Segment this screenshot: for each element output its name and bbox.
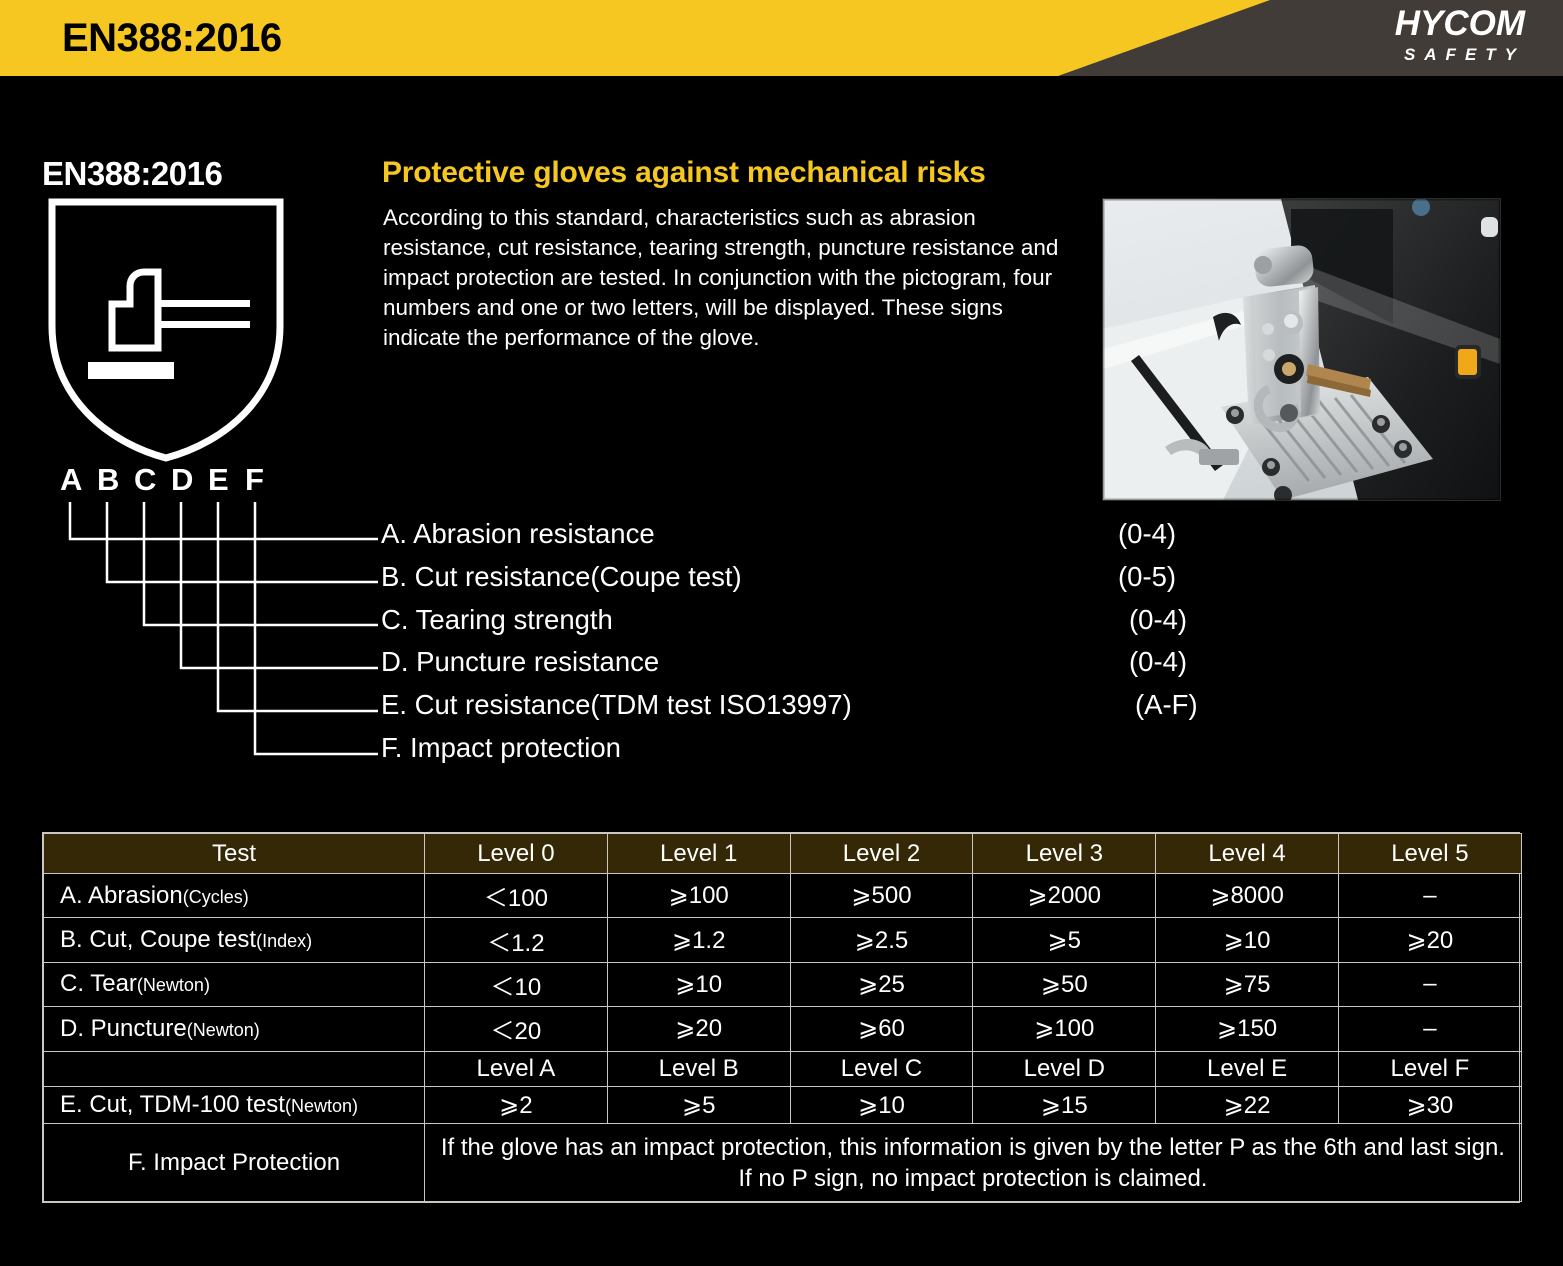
table-row: C. Tear(Newton) ＜10 ⩾10 ⩾25 ⩾50 ⩾75 – xyxy=(44,962,1522,1006)
cell-abrasion-4: ⩾8000 xyxy=(1156,874,1339,918)
letter-key-e: E xyxy=(208,462,229,498)
cell-tear-0: ＜10 xyxy=(425,962,608,1006)
table-col-level-0: Level 0 xyxy=(425,834,608,874)
row-unit-tear: (Newton) xyxy=(137,975,210,995)
cell-cut-coupe-4: ⩾10 xyxy=(1156,918,1339,962)
standard-label: EN388:2016 xyxy=(42,155,222,193)
shield-hammer-icon xyxy=(46,196,286,464)
legend-item-c-label: C. Tearing strength xyxy=(381,604,613,636)
letter-key-b: B xyxy=(97,462,119,498)
cell-cut-coupe-0: ＜1.2 xyxy=(425,918,608,962)
cell-tdm-0: ⩾2 xyxy=(425,1087,608,1124)
cell-cut-coupe-2: ⩾2.5 xyxy=(790,918,973,962)
legend-item-d-range: (0-4) xyxy=(1129,646,1187,678)
legend-item-e-label: E. Cut resistance(TDM test ISO13997) xyxy=(381,689,852,721)
table-col-level-1: Level 1 xyxy=(607,834,790,874)
cell-level-c: Level C xyxy=(790,1051,973,1087)
cell-puncture-4: ⩾150 xyxy=(1156,1007,1339,1051)
cell-level-e: Level E xyxy=(1156,1051,1339,1087)
testing-machine-image xyxy=(1103,199,1500,500)
brand-logo: HYCOM SAFETY xyxy=(1395,6,1525,67)
row-unit-abrasion: (Cycles) xyxy=(183,887,249,907)
cell-abrasion-0: ＜100 xyxy=(425,874,608,918)
intro-paragraph: According to this standard, characterist… xyxy=(383,203,1083,353)
legend-item-b-label: B. Cut resistance(Coupe test) xyxy=(381,561,742,593)
table-col-level-3: Level 3 xyxy=(973,834,1156,874)
cell-abrasion-1: ⩾100 xyxy=(607,874,790,918)
letter-key-f: F xyxy=(245,462,264,498)
cell-tdm-2: ⩾10 xyxy=(790,1087,973,1124)
row-label-tear-text: C. Tear xyxy=(60,970,137,997)
letter-key-a: A xyxy=(60,462,82,498)
cell-cut-coupe-1: ⩾1.2 xyxy=(607,918,790,962)
cell-cut-coupe-3: ⩾5 xyxy=(973,918,1156,962)
row-label-impact: F. Impact Protection xyxy=(44,1124,425,1202)
cell-tear-5: – xyxy=(1338,962,1521,1006)
shield-hammer-pictogram xyxy=(46,196,286,464)
cell-tear-2: ⩾25 xyxy=(790,962,973,1006)
page-header: EN388:2016 HYCOM SAFETY xyxy=(0,0,1563,76)
cell-puncture-0: ＜20 xyxy=(425,1007,608,1051)
page-title: Protective gloves against mechanical ris… xyxy=(382,156,986,190)
table-col-test: Test xyxy=(44,834,425,874)
cell-puncture-5: – xyxy=(1338,1007,1521,1051)
table-row: B. Cut, Coupe test(Index) ＜1.2 ⩾1.2 ⩾2.5… xyxy=(44,918,1522,962)
table-col-level-4: Level 4 xyxy=(1156,834,1339,874)
table-row: A. Abrasion(Cycles) ＜100 ⩾100 ⩾500 ⩾2000… xyxy=(44,874,1522,918)
legend-item-a: A. Abrasion resistance (0-4) xyxy=(381,518,1241,561)
performance-levels-table: Test Level 0 Level 1 Level 2 Level 3 Lev… xyxy=(42,832,1520,1203)
row-label-puncture: D. Puncture(Newton) xyxy=(44,1007,425,1051)
cell-abrasion-5: – xyxy=(1338,874,1521,918)
legend-item-b-range: (0-5) xyxy=(1118,561,1176,593)
legend-item-a-range: (0-4) xyxy=(1118,518,1176,550)
header-title: EN388:2016 xyxy=(62,16,282,61)
legend-item-e: E. Cut resistance(TDM test ISO13997) (A-… xyxy=(381,689,1241,732)
legend-item-f: F. Impact protection xyxy=(381,732,1241,775)
letter-key-c: C xyxy=(134,462,156,498)
legend-item-d: D. Puncture resistance (0-4) xyxy=(381,646,1241,689)
table-row-impact: F. Impact Protection If the glove has an… xyxy=(44,1124,1522,1202)
cell-letter-levels-blank xyxy=(44,1051,425,1087)
cell-puncture-1: ⩾20 xyxy=(607,1007,790,1051)
brand-logo-tagline: SAFETY xyxy=(1395,43,1525,67)
cell-level-d: Level D xyxy=(973,1051,1156,1087)
cell-tdm-5: ⩾30 xyxy=(1338,1087,1521,1124)
table-row-letter-levels: Level A Level B Level C Level D Level E … xyxy=(44,1051,1522,1087)
table-col-level-5: Level 5 xyxy=(1338,834,1521,874)
impact-description-line-1: If the glove has an impact protection, t… xyxy=(425,1132,1521,1163)
cell-tdm-4: ⩾22 xyxy=(1156,1087,1339,1124)
legend-item-f-label: F. Impact protection xyxy=(381,732,621,764)
legend-item-e-range: (A-F) xyxy=(1135,689,1198,721)
table-header-row: Test Level 0 Level 1 Level 2 Level 3 Lev… xyxy=(44,834,1522,874)
cell-level-b: Level B xyxy=(607,1051,790,1087)
cell-puncture-3: ⩾100 xyxy=(973,1007,1156,1051)
letter-key-d: D xyxy=(171,462,193,498)
cell-level-f: Level F xyxy=(1338,1051,1521,1087)
cell-impact-description: If the glove has an impact protection, t… xyxy=(425,1124,1522,1202)
cell-puncture-2: ⩾60 xyxy=(790,1007,973,1051)
cell-tdm-1: ⩾5 xyxy=(607,1087,790,1124)
cell-cut-coupe-5: ⩾20 xyxy=(1338,918,1521,962)
legend-list: A. Abrasion resistance (0-4) B. Cut resi… xyxy=(381,518,1241,775)
row-label-puncture-text: D. Puncture xyxy=(60,1015,187,1042)
row-unit-cut-coupe: (Index) xyxy=(256,931,312,951)
table-row: D. Puncture(Newton) ＜20 ⩾20 ⩾60 ⩾100 ⩾15… xyxy=(44,1007,1522,1051)
row-label-cut-coupe-text: B. Cut, Coupe test xyxy=(60,926,256,953)
cell-tear-1: ⩾10 xyxy=(607,962,790,1006)
impact-description-line-2: If no P sign, no impact protection is cl… xyxy=(425,1163,1521,1194)
row-label-tdm: E. Cut, TDM-100 test(Newton) xyxy=(44,1087,425,1124)
legend-item-c-range: (0-4) xyxy=(1129,604,1187,636)
cell-abrasion-3: ⩾2000 xyxy=(973,874,1156,918)
legend-item-a-label: A. Abrasion resistance xyxy=(381,518,655,550)
cell-tear-3: ⩾50 xyxy=(973,962,1156,1006)
row-label-tdm-text: E. Cut, TDM-100 test xyxy=(60,1091,285,1118)
row-label-cut-coupe: B. Cut, Coupe test(Index) xyxy=(44,918,425,962)
cell-level-a: Level A xyxy=(425,1051,608,1087)
legend-item-d-label: D. Puncture resistance xyxy=(381,646,659,678)
row-label-abrasion-text: A. Abrasion xyxy=(60,882,183,909)
table-row: E. Cut, TDM-100 test(Newton) ⩾2 ⩾5 ⩾10 ⩾… xyxy=(44,1087,1522,1124)
row-unit-puncture: (Newton) xyxy=(187,1020,260,1040)
cell-tdm-3: ⩾15 xyxy=(973,1087,1156,1124)
testing-machine-photo xyxy=(1103,199,1500,500)
row-unit-tdm: (Newton) xyxy=(285,1096,358,1116)
legend-item-b: B. Cut resistance(Coupe test) (0-5) xyxy=(381,561,1241,604)
cell-abrasion-2: ⩾500 xyxy=(790,874,973,918)
table-col-level-2: Level 2 xyxy=(790,834,973,874)
row-label-abrasion: A. Abrasion(Cycles) xyxy=(44,874,425,918)
cell-tear-4: ⩾75 xyxy=(1156,962,1339,1006)
row-label-tear: C. Tear(Newton) xyxy=(44,962,425,1006)
brand-logo-name: HYCOM xyxy=(1395,6,1525,41)
legend-item-c: C. Tearing strength (0-4) xyxy=(381,604,1241,647)
